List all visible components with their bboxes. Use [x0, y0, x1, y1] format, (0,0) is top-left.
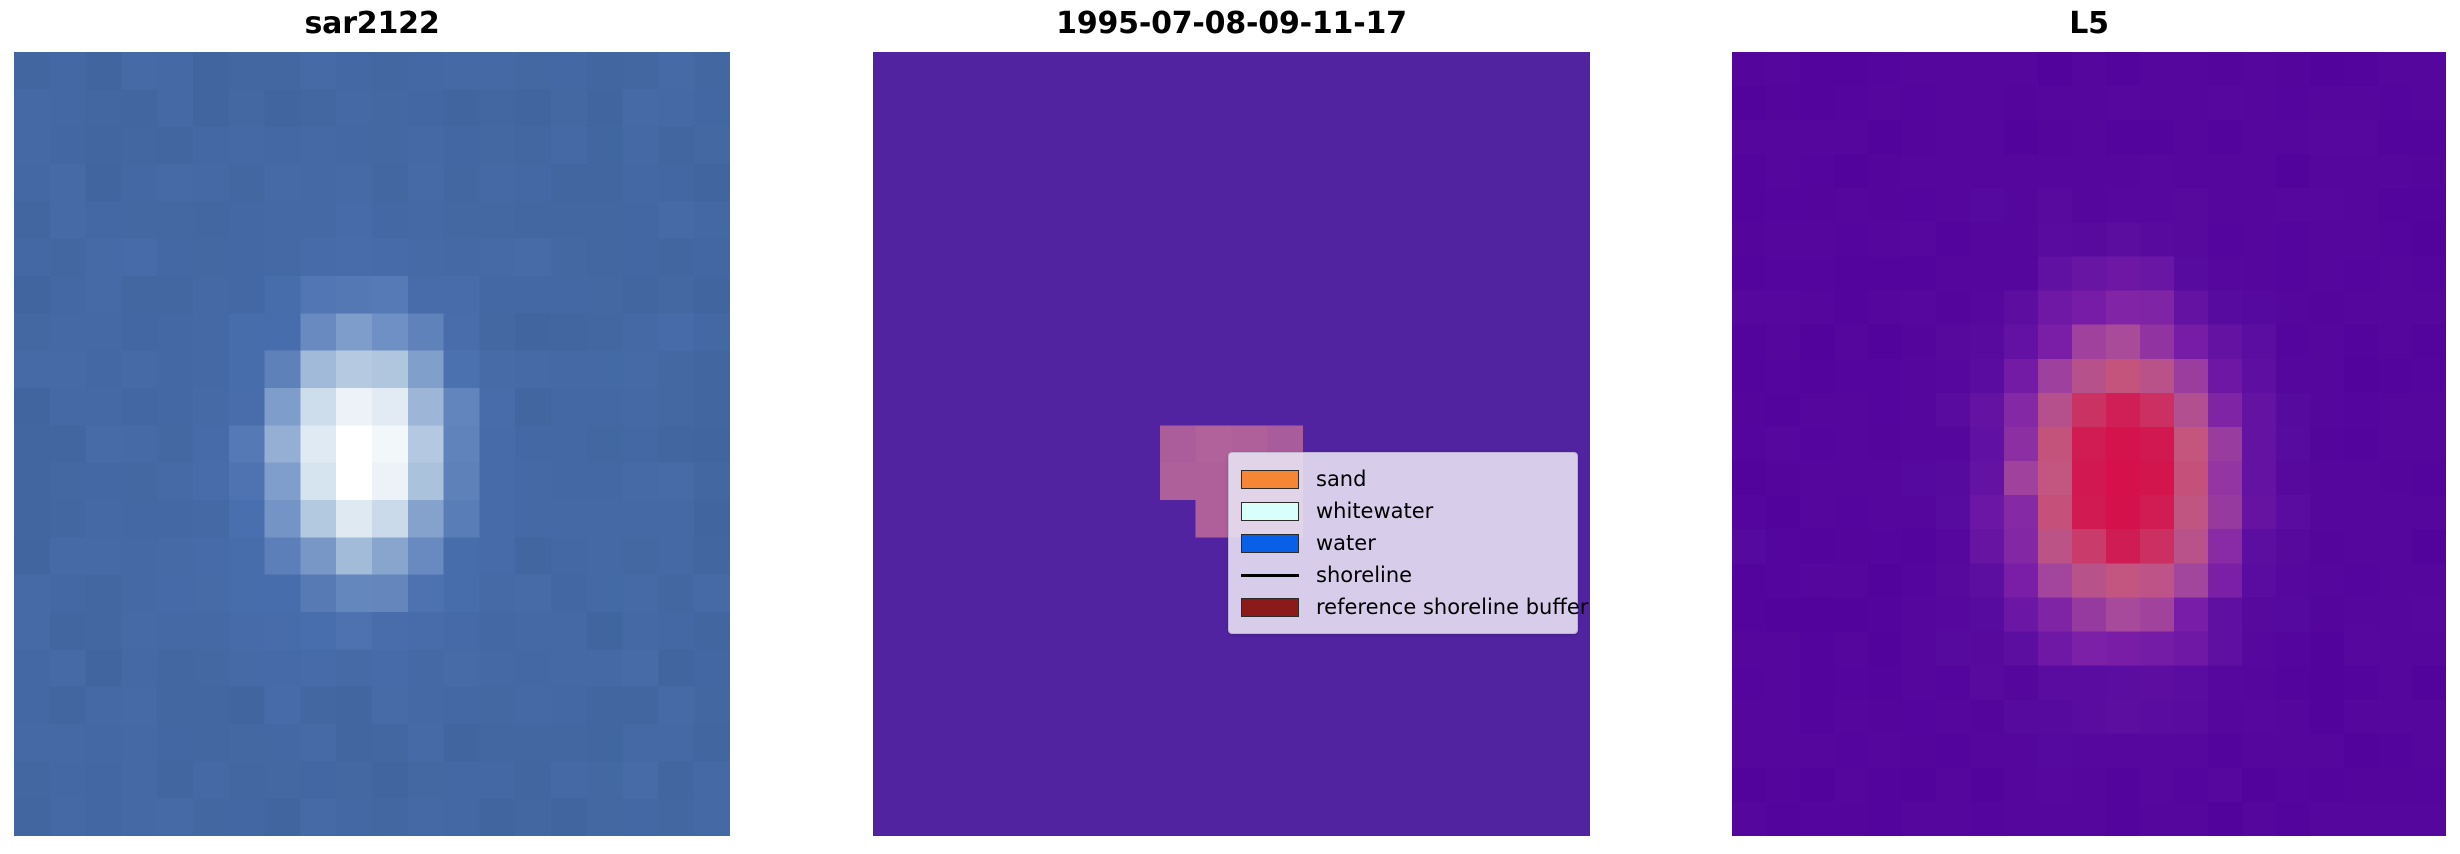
raster-classification[interactable]: [873, 52, 1590, 836]
sand-swatch-icon: [1241, 470, 1299, 489]
raster-l5[interactable]: [1732, 52, 2446, 836]
water-swatch-icon: [1241, 534, 1299, 553]
panel-title-classification: 1995-07-08-09-11-17: [873, 6, 1590, 42]
panel-title-sar: sar2122: [14, 6, 730, 42]
legend-item-shoreline[interactable]: shoreline: [1241, 559, 1565, 591]
legend-label-sand: sand: [1316, 468, 1366, 490]
legend-item-sand[interactable]: sand: [1241, 463, 1565, 495]
raster-sar[interactable]: [14, 52, 730, 836]
reference-shoreline-buffer-swatch-icon: [1241, 598, 1299, 617]
legend-item-whitewater[interactable]: whitewater: [1241, 495, 1565, 527]
figure-canvas: sar2122 1995-07-08-09-11-17 L5 sand whit…: [0, 0, 2460, 854]
whitewater-swatch-icon: [1241, 502, 1299, 521]
legend-box[interactable]: sand whitewater water shoreline referenc…: [1228, 452, 1578, 634]
legend-label-shoreline: shoreline: [1316, 564, 1412, 586]
panel-sar: sar2122: [14, 0, 730, 854]
legend-item-reference-shoreline-buffer[interactable]: reference shoreline buffer: [1241, 591, 1565, 623]
shoreline-line-icon: [1241, 566, 1299, 585]
legend-label-reference-shoreline-buffer: reference shoreline buffer: [1316, 596, 1588, 618]
legend-label-whitewater: whitewater: [1316, 500, 1433, 522]
panel-classification: 1995-07-08-09-11-17: [873, 0, 1590, 854]
legend-item-water[interactable]: water: [1241, 527, 1565, 559]
panel-title-l5: L5: [1732, 6, 2446, 42]
panel-l5: L5: [1732, 0, 2446, 854]
legend-label-water: water: [1316, 532, 1376, 554]
